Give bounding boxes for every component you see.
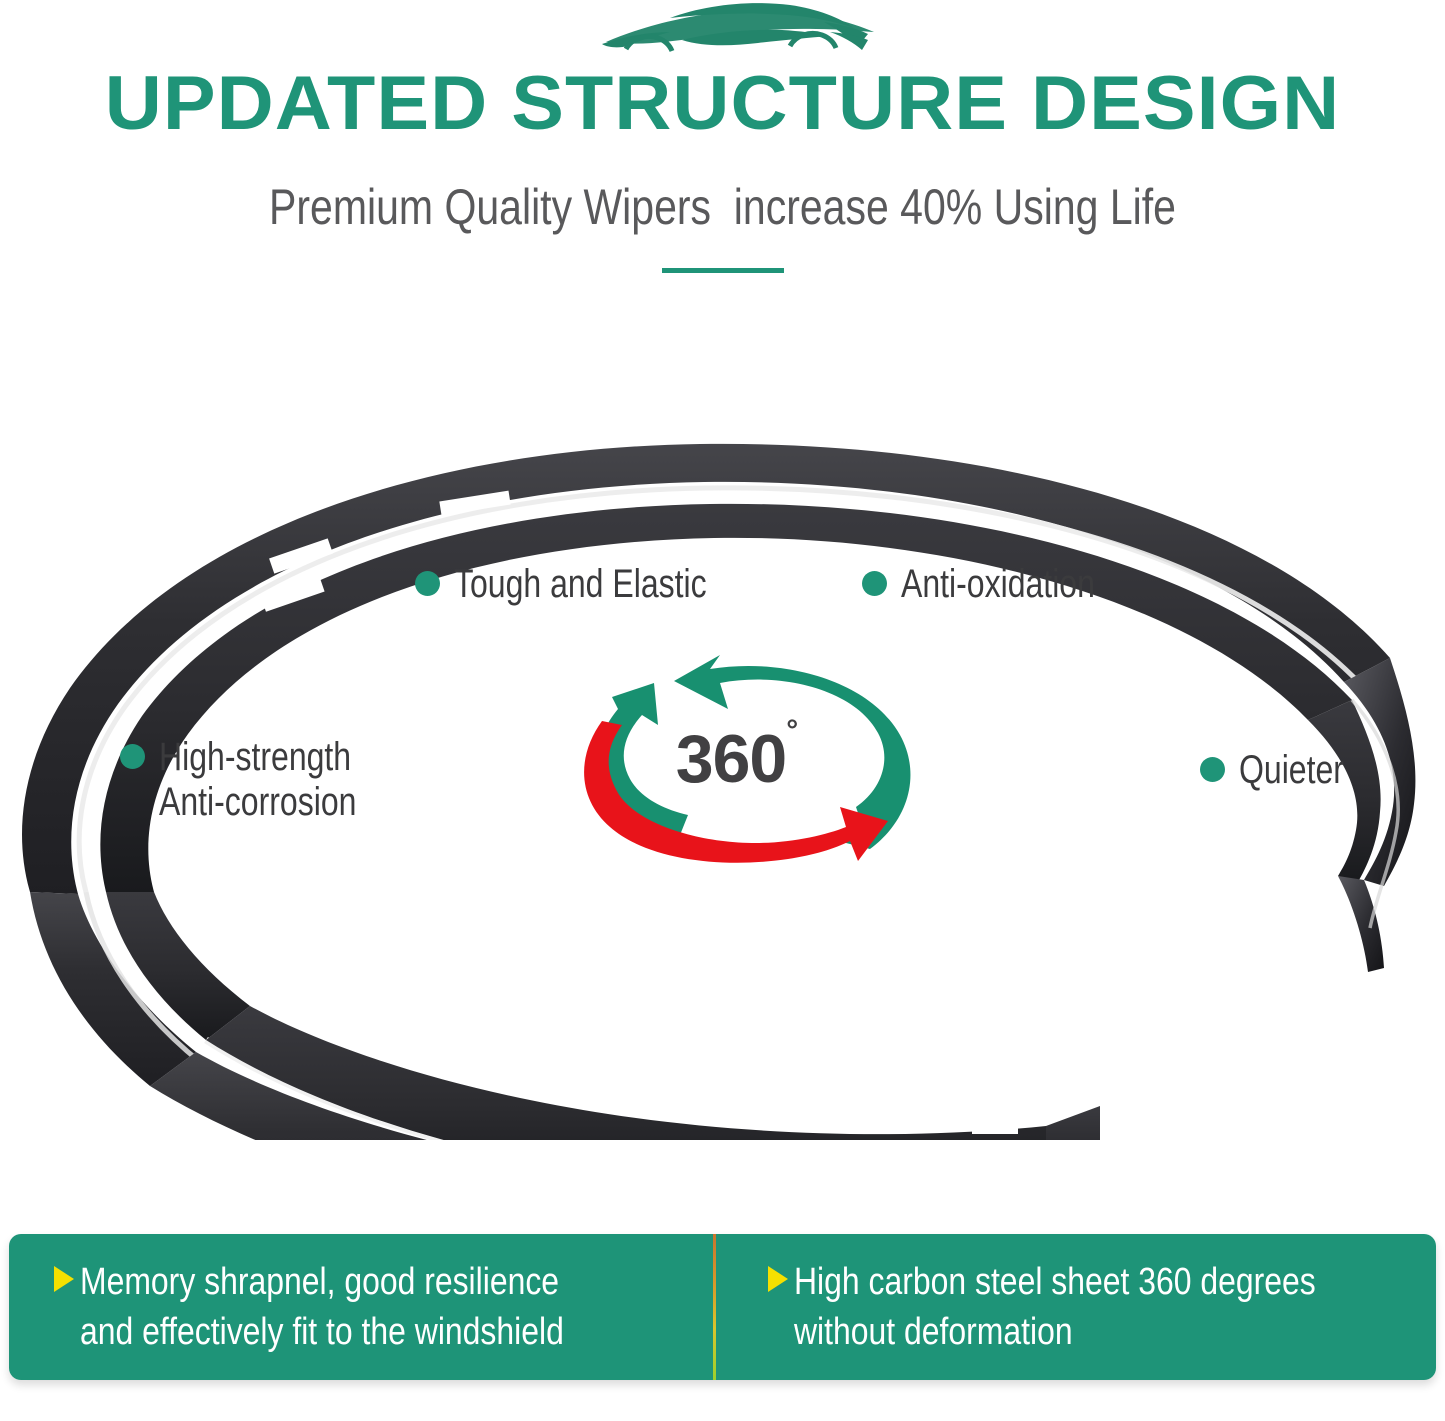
callout-quieter: Quieter <box>1200 748 1370 793</box>
panel-divider <box>713 1234 716 1380</box>
page-subtitle: Premium Quality Wipers increase 40% Usin… <box>130 176 1315 238</box>
title-underline-divider <box>662 268 784 273</box>
feature-panel-text: High carbon steel sheet 360 degrees with… <box>794 1257 1316 1357</box>
triangle-bullet-icon <box>768 1266 788 1292</box>
callout-high-strength-anti-corrosion: High-strength Anti-corrosion <box>120 735 406 825</box>
sports-car-silhouette-icon <box>586 2 886 58</box>
triangle-bullet-icon <box>54 1266 74 1292</box>
callout-tough-and-elastic: Tough and Elastic <box>415 562 770 607</box>
bullet-dot-icon <box>1200 757 1225 782</box>
callout-label: Anti-oxidation <box>901 562 1095 607</box>
page-title: UPDATED STRUCTURE DESIGN <box>0 62 1445 146</box>
bullet-dot-icon <box>862 571 887 596</box>
360-degree-badge: 360° <box>570 655 920 870</box>
bullet-dot-icon <box>120 744 145 769</box>
feature-panels-bar: Memory shrapnel, good resilience and eff… <box>9 1234 1436 1380</box>
callout-label: Tough and Elastic <box>454 562 707 607</box>
product-infographic-page: UPDATED STRUCTURE DESIGN Premium Quality… <box>0 0 1445 1421</box>
callout-label: Quieter <box>1239 748 1344 793</box>
callout-anti-oxidation: Anti-oxidation <box>862 562 1143 607</box>
bullet-dot-icon <box>415 571 440 596</box>
feature-panel-high-carbon-steel: High carbon steel sheet 360 degrees with… <box>723 1234 1437 1380</box>
feature-panel-text: Memory shrapnel, good resilience and eff… <box>80 1257 564 1357</box>
feature-panel-memory-shrapnel: Memory shrapnel, good resilience and eff… <box>9 1234 723 1380</box>
callout-label: High-strength Anti-corrosion <box>159 735 356 825</box>
